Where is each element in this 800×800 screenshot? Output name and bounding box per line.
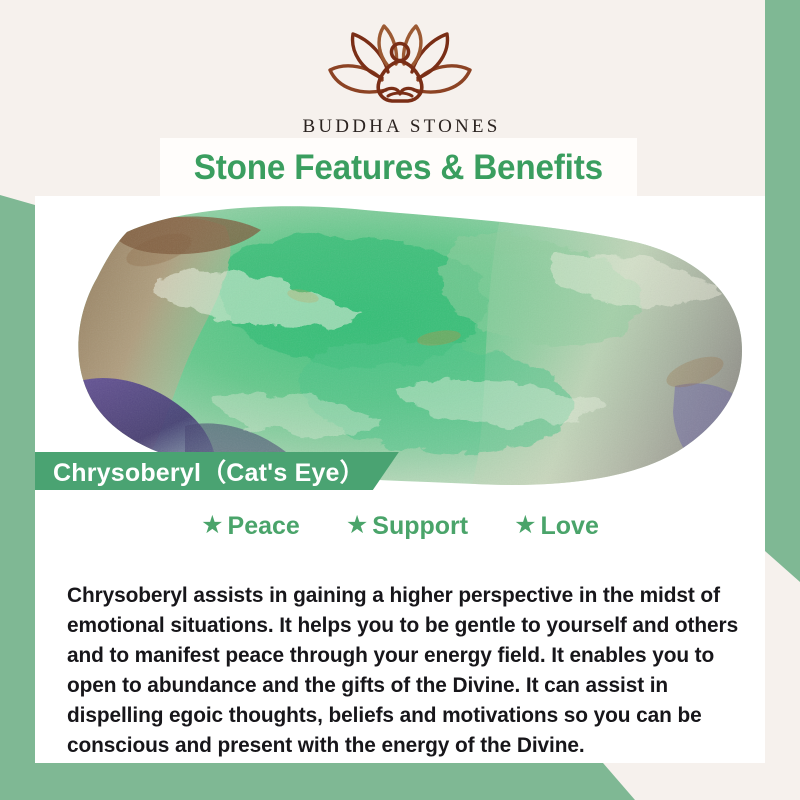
benefits-row: ★ Peace ★ Support ★ Love: [35, 512, 765, 541]
benefit-label: Support: [372, 512, 468, 541]
benefit-label: Peace: [228, 512, 300, 541]
stone-info-card: BUDDHA STONES Stone Features & Benefits: [0, 0, 800, 800]
star-icon: ★: [514, 513, 536, 538]
stone-description: Chrysoberyl assists in gaining a higher …: [67, 580, 740, 760]
brand-logo: BUDDHA STONES: [35, 18, 765, 138]
star-icon: ★: [201, 513, 223, 538]
benefit-item-love: ★ Love: [514, 512, 599, 541]
stone-name: Chrysoberyl（Cat's Eye）: [53, 453, 365, 489]
lotus-meditation-figure-icon: [320, 18, 480, 110]
benefit-item-peace: ★ Peace: [201, 512, 300, 541]
title-plaque: Stone Features & Benefits: [160, 138, 637, 198]
page-title: Stone Features & Benefits: [194, 148, 603, 188]
brand-name: BUDDHA STONES: [35, 116, 765, 138]
star-icon: ★: [346, 513, 368, 538]
frame-bottom-accent: [0, 763, 800, 800]
benefit-label: Love: [541, 512, 599, 541]
benefit-item-support: ★ Support: [346, 512, 468, 541]
stone-name-banner: Chrysoberyl（Cat's Eye）: [35, 452, 399, 490]
frame-left-accent: [0, 195, 35, 800]
frame-right-accent: [765, 0, 800, 582]
